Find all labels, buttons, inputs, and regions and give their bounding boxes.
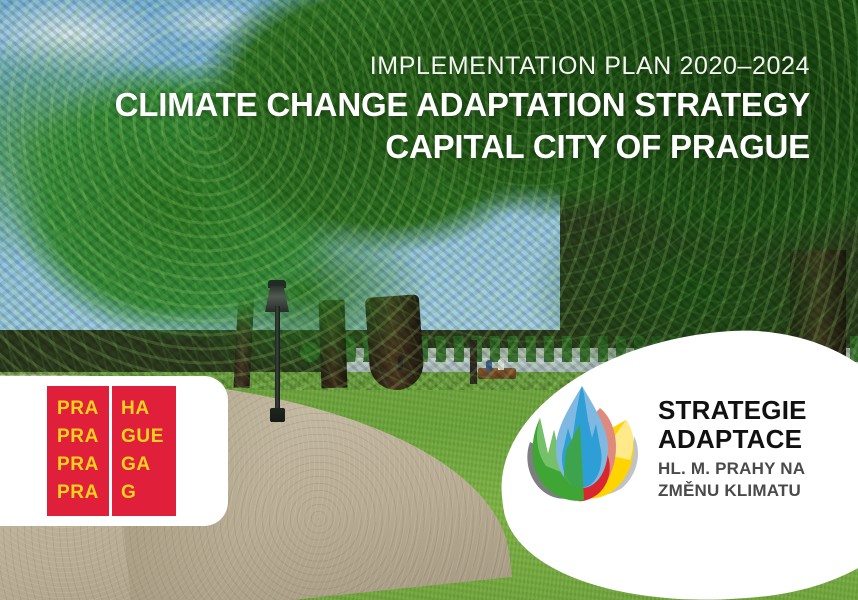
lamppost-base — [270, 408, 285, 422]
report-cover: IMPLEMENTATION PLAN 2020–2024 CLIMATE CH… — [0, 0, 858, 600]
cover-headline-secondary: CAPITAL CITY OF PRAGUE — [115, 127, 810, 167]
prague-logo-right-block: HA GUE GA G — [112, 386, 176, 516]
strategy-logo: STRATEGIE ADAPTACE HL. M. PRAHY NA ZMĚNU… — [522, 376, 852, 518]
prague-logo-left-block: PRA PRA PRA PRA — [47, 386, 109, 516]
cover-kicker: IMPLEMENTATION PLAN 2020–2024 — [115, 52, 810, 81]
cover-headline-primary: CLIMATE CHANGE ADAPTATION STRATEGY — [115, 85, 810, 125]
prague-logo-word: GA — [121, 451, 151, 479]
strategy-wordmark: STRATEGIE ADAPTACE HL. M. PRAHY NA ZMĚNU… — [658, 392, 807, 502]
prague-logo-word: GUE — [121, 423, 164, 451]
strategy-title-line1: STRATEGIE — [658, 396, 807, 425]
prague-logo-word: PRA — [57, 423, 99, 451]
lamppost-pole — [275, 306, 280, 418]
prague-logo: PRA PRA PRA PRA HA GUE GA G — [47, 386, 176, 516]
strategy-title-line2: ADAPTACE — [658, 425, 807, 454]
prague-logo-word: PRA — [57, 479, 99, 507]
prague-logo-word: HA — [121, 395, 150, 423]
prague-logo-word: PRA — [57, 395, 99, 423]
cover-title-block: IMPLEMENTATION PLAN 2020–2024 CLIMATE CH… — [115, 52, 810, 167]
prague-logo-card: PRA PRA PRA PRA HA GUE GA G — [0, 376, 228, 526]
strategy-subtitle-line2: ZMĚNU KLIMATU — [658, 481, 807, 502]
prague-logo-word: PRA — [57, 451, 99, 479]
strategy-subtitle-line1: HL. M. PRAHY NA — [658, 459, 807, 480]
strategy-flower-drop-icon — [522, 380, 644, 514]
prague-logo-word: G — [121, 479, 136, 507]
